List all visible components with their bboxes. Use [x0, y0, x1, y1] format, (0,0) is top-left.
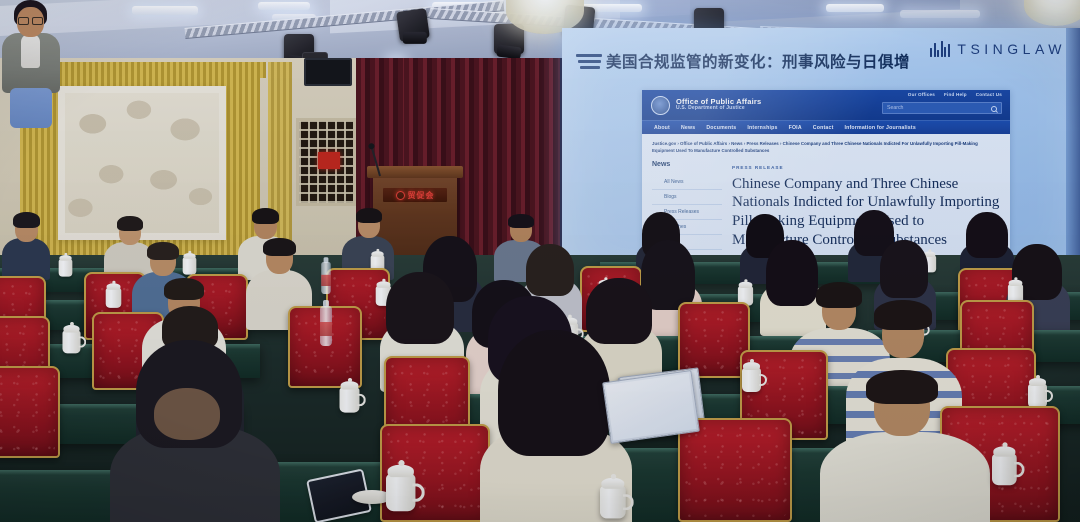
brand-text: TSINGLAW — [957, 41, 1066, 57]
doj-util-our-offices[interactable]: Our Offices — [908, 92, 935, 97]
doj-seal-icon — [651, 96, 670, 115]
doj-content-area: News All News Blogs Press Releases Speec… — [642, 159, 1010, 250]
attendee-hair — [508, 214, 534, 228]
laptop-icon[interactable] — [602, 370, 700, 444]
attendee-hair — [356, 208, 382, 223]
doj-nav-contact[interactable]: Contact — [813, 125, 834, 131]
chair — [678, 418, 792, 522]
attendee-hair — [263, 238, 296, 256]
attendee-hair — [498, 330, 610, 456]
sidebar-item-blogs[interactable]: Blogs — [652, 190, 722, 205]
water-bottle-icon — [320, 306, 332, 346]
attendee-hair — [866, 370, 938, 404]
podium-top — [367, 166, 463, 178]
ceiling-light — [132, 6, 198, 15]
presenter-shirt — [21, 34, 40, 68]
wall-monitor — [304, 58, 352, 86]
doj-primary-nav: About News Documents Internships FOIA Co… — [642, 120, 1010, 134]
ceiling-light — [258, 2, 310, 10]
lattice-accent — [318, 152, 340, 169]
doj-masthead: Office of Public Affairs U.S. Department… — [642, 90, 1010, 120]
breadcrumb: Justice.gov › Office of Public Affairs ›… — [642, 134, 1010, 159]
attendee-hair — [147, 242, 179, 260]
sidebar-item-all-news[interactable]: All News — [652, 175, 722, 190]
lidded-teacup-icon — [992, 454, 1017, 485]
podium-plate-text: 贸促会 — [408, 190, 435, 201]
lidded-teacup-icon — [59, 259, 73, 276]
doj-org-sub: U.S. Department of Justice — [676, 106, 761, 112]
lattice-window-icon — [296, 118, 356, 206]
attendee-hair — [966, 212, 1008, 258]
attendee-head — [154, 388, 220, 440]
hamburger-menu-icon — [576, 54, 602, 68]
lidded-teacup-icon — [62, 331, 80, 354]
doj-util-contact-us[interactable]: Contact Us — [976, 92, 1002, 97]
press-release-label: PRESS RELEASE — [732, 165, 1000, 170]
attendee-hair — [386, 272, 454, 344]
doj-nav-documents[interactable]: Documents — [706, 125, 736, 131]
attendee — [110, 340, 280, 522]
lidded-teacup-icon — [742, 368, 761, 392]
doj-nav-news[interactable]: News — [681, 125, 695, 131]
attendee-hair — [252, 208, 279, 224]
attendee-hair — [874, 300, 932, 330]
stage-light-icon — [396, 8, 430, 42]
laptop-screen — [606, 373, 697, 440]
attendee-body — [820, 432, 990, 522]
ceiling-light — [900, 10, 980, 18]
lidded-teacup-icon — [1028, 384, 1047, 408]
doj-search-placeholder: Search — [887, 105, 903, 111]
lidded-teacup-icon — [106, 288, 122, 308]
tsinglaw-brand: TSINGLAW — [930, 40, 1066, 57]
doj-nav-about[interactable]: About — [654, 125, 670, 131]
bottle-label — [321, 275, 331, 286]
lidded-teacup-icon — [340, 387, 360, 412]
tsinglaw-logo-mark — [930, 40, 950, 57]
attendee — [820, 370, 990, 522]
doj-sidebar-heading: News — [652, 161, 722, 168]
ceiling-light — [826, 4, 884, 12]
attendee-hair — [13, 212, 40, 228]
attendee — [2, 212, 50, 274]
presenter-lower — [10, 88, 52, 128]
podium-nameplate: 贸促会 — [383, 188, 447, 202]
slide-header: 美国合规监管的新变化：刑事风险与日俱增 TSINGLAW — [562, 28, 1080, 86]
doj-nav-foia[interactable]: FOIA — [789, 125, 802, 131]
podium-emblem-icon — [396, 191, 405, 200]
doj-util-find-help[interactable]: Find Help — [944, 92, 967, 97]
teacup-icon — [386, 474, 415, 511]
doj-utility-links: Our Offices Find Help Contact Us — [908, 92, 1002, 97]
slide-title: 美国合规监管的新变化：刑事风险与日俱增 — [606, 50, 910, 72]
doj-nav-journalists[interactable]: Information for Journalists — [845, 125, 916, 131]
lidded-teacup-icon — [600, 486, 626, 518]
attendee — [342, 208, 394, 274]
doj-search-field[interactable]: Search — [882, 102, 1002, 114]
doj-org-names: Office of Public Affairs U.S. Department… — [676, 98, 761, 112]
attendee-hair — [117, 216, 143, 231]
damask-pattern — [65, 93, 219, 233]
search-icon[interactable] — [991, 106, 997, 112]
doj-nav-internships[interactable]: Internships — [747, 125, 777, 131]
attendee-body — [2, 238, 50, 280]
water-bottle-icon — [321, 262, 331, 294]
eyeglasses-icon — [18, 17, 43, 23]
conference-photo-scene: 美国合规监管的新变化：刑事风险与日俱增 TSINGLAW Office of P… — [0, 0, 1080, 522]
attendee-hair — [164, 278, 204, 300]
chair — [0, 366, 60, 458]
bottle-label — [320, 322, 332, 336]
